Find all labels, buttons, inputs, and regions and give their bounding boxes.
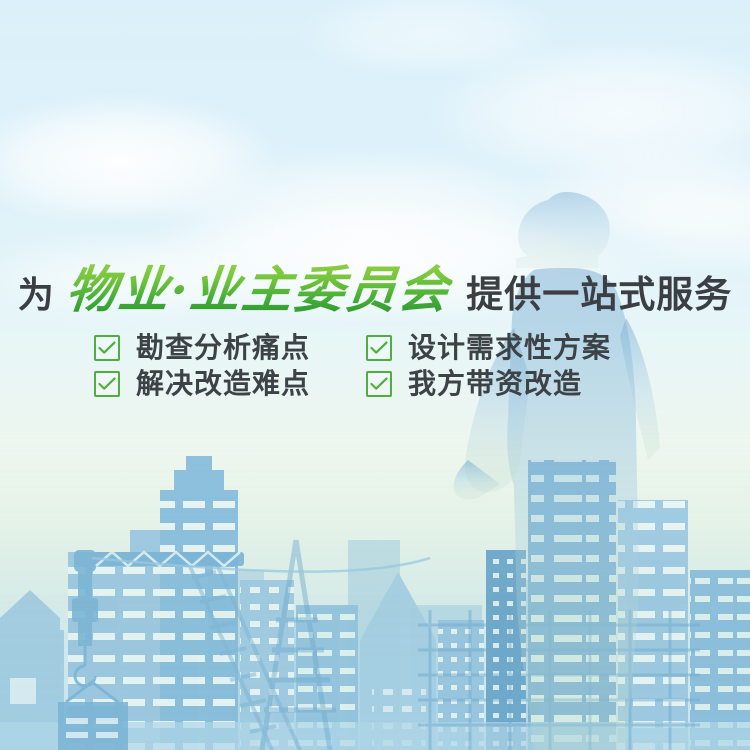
checkbox-checked-icon	[94, 371, 120, 397]
headline: 为 物业·业主委员会 提供一站式服务	[0, 250, 750, 322]
feature-item: 勘查分析痛点	[94, 334, 366, 362]
checkbox-checked-icon	[366, 371, 392, 397]
feature-item: 设计需求性方案	[366, 334, 656, 362]
feature-label: 勘查分析痛点	[136, 334, 310, 362]
feature-label: 我方带资改造	[408, 370, 582, 398]
banner-canvas: 为 物业·业主委员会 提供一站式服务 勘查分析痛点 设计需求性方	[0, 0, 750, 750]
checkbox-checked-icon	[94, 335, 120, 361]
banner-content: 为 物业·业主委员会 提供一站式服务 勘查分析痛点 设计需求性方	[0, 0, 750, 750]
feature-label: 解决改造难点	[136, 370, 310, 398]
headline-highlight: 物业·业主委员会	[61, 250, 456, 322]
feature-list: 勘查分析痛点 设计需求性方案 解决改造难点	[0, 334, 750, 398]
feature-item: 解决改造难点	[94, 370, 366, 398]
feature-label: 设计需求性方案	[408, 334, 611, 362]
headline-prefix: 为	[18, 266, 55, 318]
feature-item: 我方带资改造	[366, 370, 656, 398]
checkbox-checked-icon	[366, 335, 392, 361]
headline-suffix: 提供一站式服务	[466, 264, 732, 318]
